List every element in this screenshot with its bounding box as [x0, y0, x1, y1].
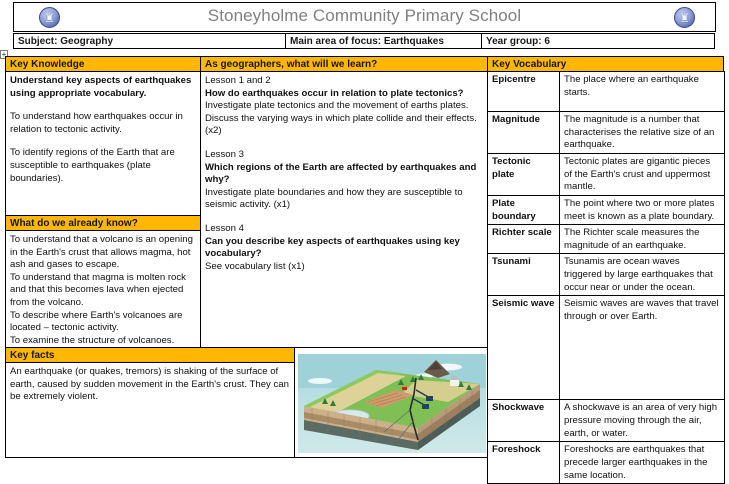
vocabulary-row: ShockwaveA shockwave is an area of very … — [488, 400, 725, 442]
knowledge-organiser-page: Stoneyholme Community Primary School ♜ ♜… — [0, 0, 729, 461]
key-knowledge-body: Understand key aspects of earthquakes us… — [5, 71, 201, 216]
key-vocabulary-table: EpicentreThe place where an earthquake s… — [487, 71, 725, 484]
focus-cell: Main area of focus: Earthquakes — [285, 33, 482, 49]
vocabulary-term: Seismic wave — [488, 296, 560, 400]
vocabulary-row: MagnitudeThe magnitude is a number that … — [488, 112, 725, 154]
spacer — [205, 212, 483, 223]
vocabulary-row: EpicentreThe place where an earthquake s… — [488, 72, 725, 112]
vocabulary-term: Richter scale — [488, 225, 560, 254]
school-crest-left-icon: ♜ — [39, 7, 60, 28]
vocabulary-row: TsunamiTsunamis are ocean waves triggere… — [488, 254, 725, 296]
vocabulary-definition: The point where two or more plates meet … — [560, 196, 725, 225]
lesson-number: Lesson 4 — [205, 223, 483, 236]
prior-knowledge-line: To understand that a volcano is an openi… — [10, 234, 196, 272]
key-facts-text: An earthquake (or quakes, tremors) is sh… — [10, 366, 290, 404]
year-group-cell: Year group: 6 — [481, 33, 715, 49]
vocabulary-term: Tectonic plate — [488, 154, 560, 196]
school-crest-right-icon: ♜ — [674, 7, 695, 28]
spacer — [10, 100, 196, 111]
learning-overview-header: As geographers, what will we learn? — [200, 56, 488, 72]
subject-row: Subject: Geography Main area of focus: E… — [13, 33, 716, 49]
lesson-question: How do earthquakes occur in relation to … — [205, 88, 483, 101]
vocabulary-definition: The place where an earthquake starts. — [560, 72, 725, 112]
lesson-detail: Investigate plate tectonics and the move… — [205, 100, 483, 113]
lesson-detail: Investigate plate boundaries and how the… — [205, 187, 483, 212]
vocabulary-definition: Tectonic plates are gigantic pieces of t… — [560, 154, 725, 196]
earthquake-fault-block-diagram-image — [294, 347, 488, 458]
key-facts-body: An earthquake (or quakes, tremors) is sh… — [5, 362, 295, 458]
prior-knowledge-line: To understand that magma is molten rock … — [10, 272, 196, 310]
page-title: Stoneyholme Community Primary School — [14, 6, 715, 26]
prior-knowledge-line: To describe where Earth's volcanoes are … — [10, 310, 196, 335]
vocabulary-row: ForeshockForeshocks are earthquakes that… — [488, 442, 725, 484]
lesson-number: Lesson 1 and 2 — [205, 75, 483, 88]
vocabulary-term: Epicentre — [488, 72, 560, 112]
spacer — [205, 138, 483, 149]
vocabulary-definition: The magnitude is a number that character… — [560, 112, 725, 154]
vocabulary-row: Tectonic plateTectonic plates are gigant… — [488, 154, 725, 196]
title-bar: Stoneyholme Community Primary School ♜ ♜ — [13, 2, 716, 32]
crest-glyph: ♜ — [40, 9, 59, 27]
vocabulary-definition: The Richter scale measures the magnitude… — [560, 225, 725, 254]
vocabulary-definition: Foreshocks are earthquakes that precede … — [560, 442, 725, 484]
lesson-detail: Discuss the varying ways in which plate … — [205, 113, 483, 138]
key-knowledge-line: To identify regions of the Earth that ar… — [10, 147, 196, 185]
vocabulary-term: Shockwave — [488, 400, 560, 442]
fault-block-svg — [298, 354, 486, 453]
lesson-detail: See vocabulary list (x1) — [205, 261, 483, 274]
key-knowledge-line: Understand key aspects of earthquakes us… — [10, 75, 196, 100]
spacer — [10, 136, 196, 147]
vocabulary-row: Richter scaleThe Richter scale measures … — [488, 225, 725, 254]
vocabulary-term: Foreshock — [488, 442, 560, 484]
lesson-question: Can you describe key aspects of earthqua… — [205, 236, 483, 261]
key-knowledge-line: To understand how earthquakes occur in r… — [10, 111, 196, 136]
vocabulary-row: Plate boundaryThe point where two or mor… — [488, 196, 725, 225]
vocabulary-definition: Seismic waves are waves that travel thro… — [560, 296, 725, 400]
subject-cell: Subject: Geography — [13, 33, 286, 49]
lesson-number: Lesson 3 — [205, 149, 483, 162]
vocabulary-term: Tsunami — [488, 254, 560, 296]
crest-glyph: ♜ — [675, 9, 694, 27]
prior-knowledge-line: To examine the structure of volcanoes. — [10, 335, 196, 348]
prior-knowledge-header: What do we already know? — [5, 215, 201, 231]
vocabulary-term: Magnitude — [488, 112, 560, 154]
key-vocabulary-header: Key Vocabulary — [487, 56, 724, 72]
learning-overview-body: Lesson 1 and 2How do earthquakes occur i… — [200, 71, 488, 348]
vocabulary-definition: Tsunamis are ocean waves triggered by la… — [560, 254, 725, 296]
prior-knowledge-body: To understand that a volcano is an openi… — [5, 230, 201, 348]
key-facts-header: Key facts — [5, 347, 295, 363]
lesson-question: Which regions of the Earth are affected … — [205, 162, 483, 187]
vocabulary-term: Plate boundary — [488, 196, 560, 225]
vocabulary-definition: A shockwave is an area of very high pres… — [560, 400, 725, 442]
vocabulary-row: Seismic waveSeismic waves are waves that… — [488, 296, 725, 400]
key-knowledge-header: Key Knowledge — [5, 56, 201, 72]
